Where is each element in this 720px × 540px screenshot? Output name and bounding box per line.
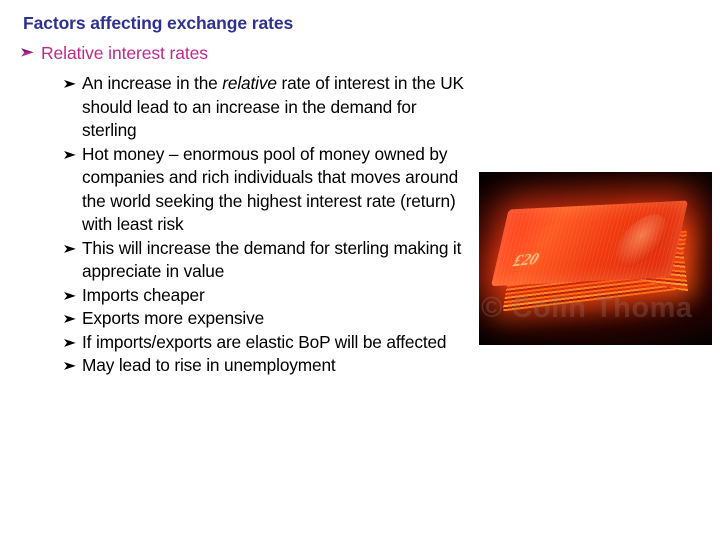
top-banknote: £20 bbox=[491, 200, 688, 286]
wingdings-arrow-bullet-icon bbox=[63, 331, 82, 350]
level1-bullet-label: Relative interest rates bbox=[41, 43, 208, 64]
wingdings-arrow-bullet-icon bbox=[63, 307, 82, 326]
list-item: An increase in the relative rate of inte… bbox=[63, 72, 468, 143]
list-item: Imports cheaper bbox=[63, 284, 468, 308]
list-item-emphasis: relative bbox=[222, 73, 277, 93]
level1-bullet-item: Relative interest rates bbox=[20, 43, 208, 64]
list-item-label: This will increase the demand for sterli… bbox=[82, 237, 468, 284]
wingdings-arrow-bullet-icon bbox=[63, 72, 82, 91]
list-item: This will increase the demand for sterli… bbox=[63, 237, 468, 284]
list-item: Exports more expensive bbox=[63, 307, 468, 331]
wingdings-arrow-bullet-icon bbox=[20, 43, 41, 60]
page-title: Factors affecting exchange rates bbox=[23, 13, 293, 34]
list-item-label: May lead to rise in unemployment bbox=[82, 354, 468, 378]
slide-canvas: Factors affecting exchange rates Relativ… bbox=[0, 0, 720, 540]
list-item: Hot money – enormous pool of money owned… bbox=[63, 143, 468, 237]
wingdings-arrow-bullet-icon bbox=[63, 354, 82, 373]
list-item: If imports/exports are elastic BoP will … bbox=[63, 331, 468, 355]
list-item-label: Hot money – enormous pool of money owned… bbox=[82, 143, 468, 237]
wingdings-arrow-bullet-icon bbox=[63, 284, 82, 303]
bullet-list: An increase in the relative rate of inte… bbox=[63, 72, 468, 378]
wingdings-arrow-bullet-icon bbox=[63, 237, 82, 256]
list-item-label: Imports cheaper bbox=[82, 284, 468, 308]
banknote-portrait bbox=[606, 213, 677, 268]
banknote-denomination-label: £20 bbox=[509, 250, 543, 271]
wingdings-arrow-bullet-icon bbox=[63, 143, 82, 162]
list-item-label: If imports/exports are elastic BoP will … bbox=[82, 331, 468, 355]
banknote-stack-illustration: £20 bbox=[489, 184, 698, 325]
list-item-text-before: An increase in the bbox=[82, 73, 222, 93]
money-stack-photo: £20 © Colin Thoma bbox=[479, 172, 712, 345]
list-item-label: An increase in the relative rate of inte… bbox=[82, 72, 468, 143]
list-item-label: Exports more expensive bbox=[82, 307, 468, 331]
list-item: May lead to rise in unemployment bbox=[63, 354, 468, 378]
